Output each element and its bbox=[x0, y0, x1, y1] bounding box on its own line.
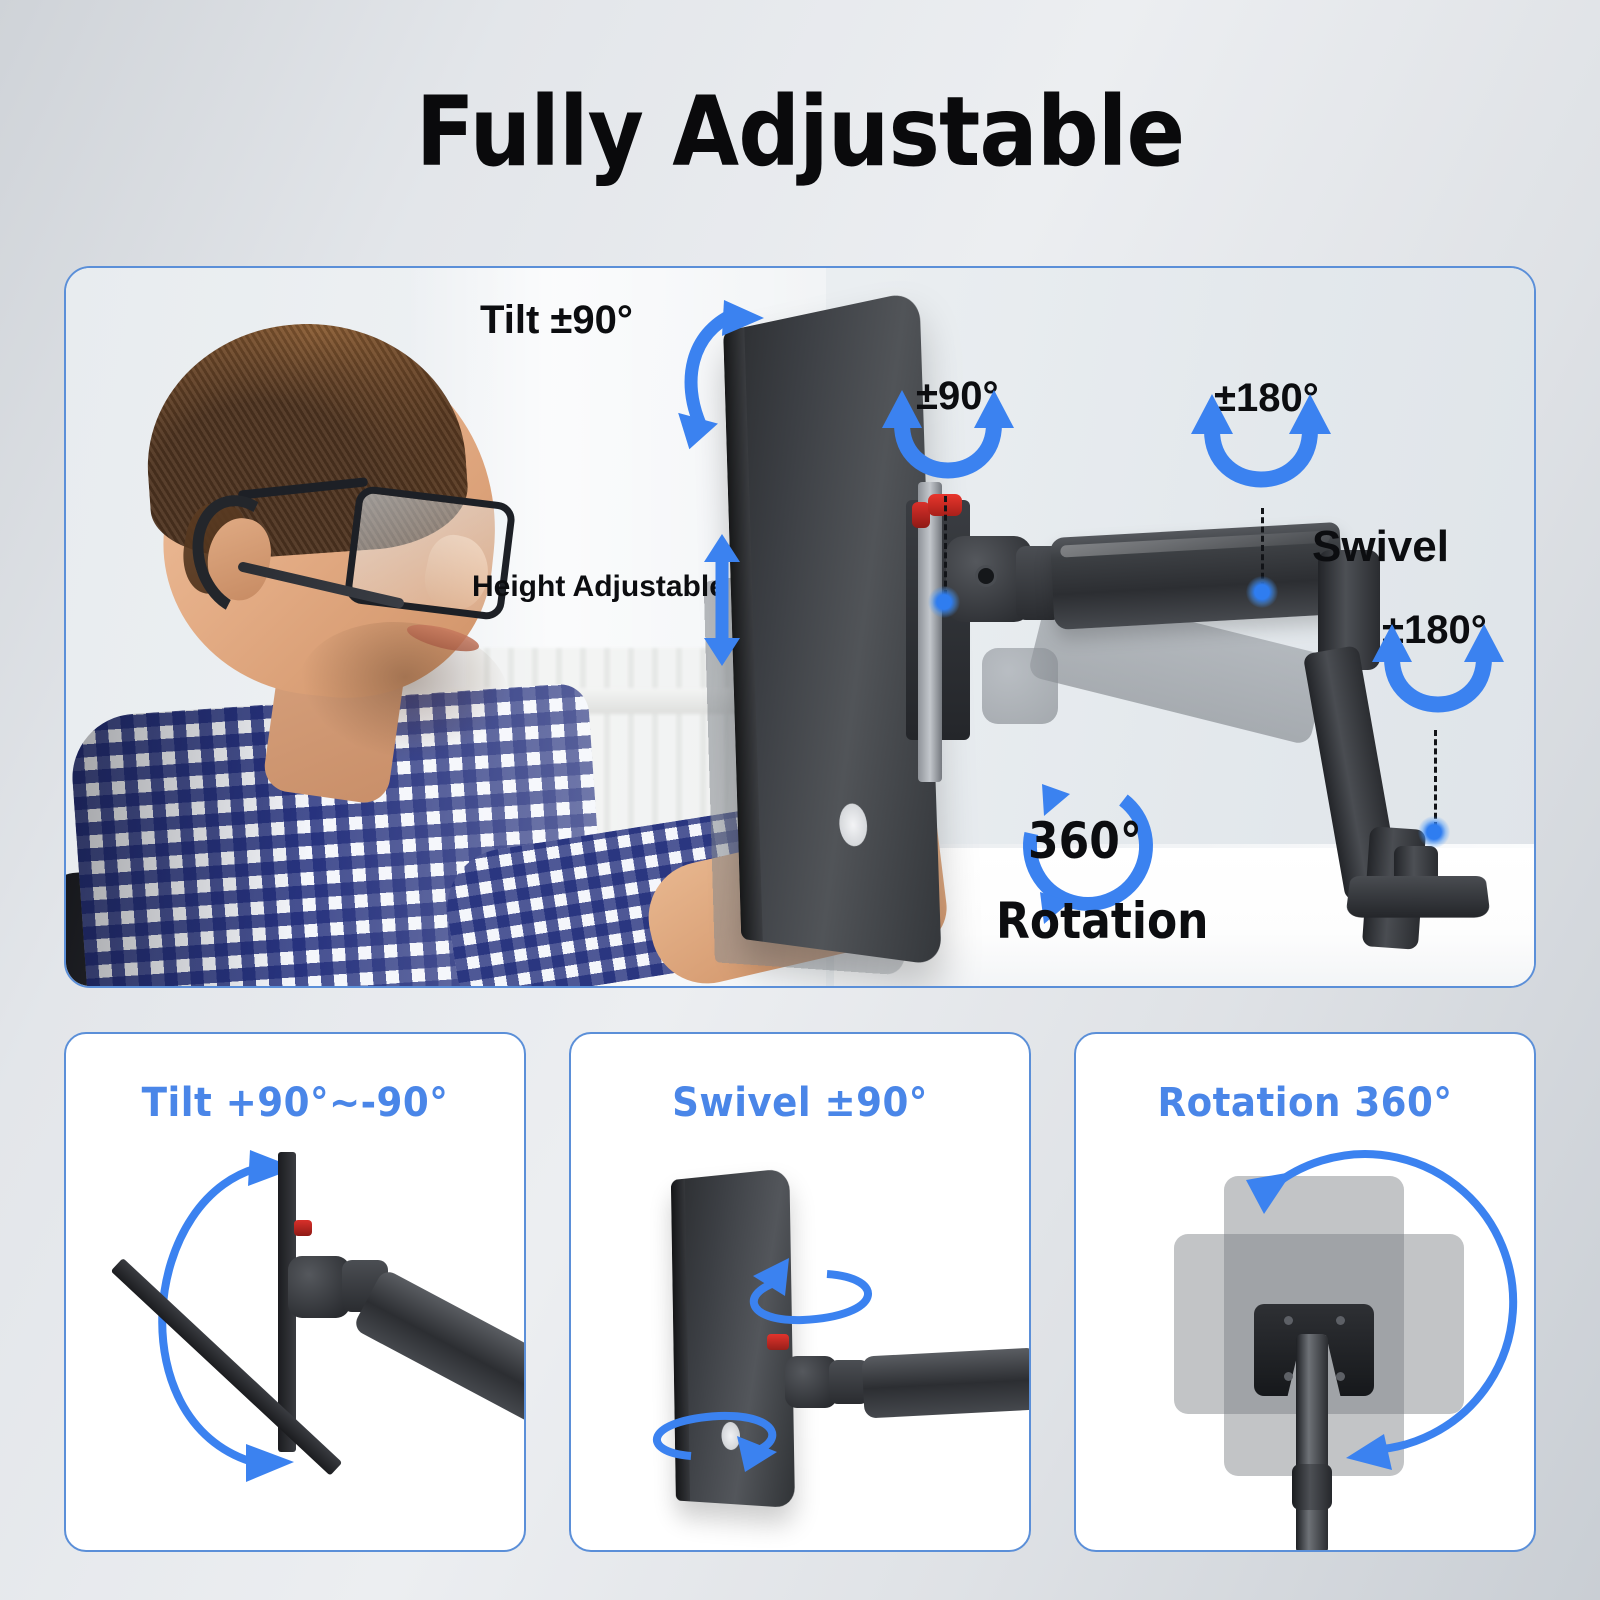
ellipse-arrow-icon bbox=[647, 1230, 907, 1530]
page-title: Fully Adjustable bbox=[80, 84, 1520, 180]
annotation-swivel-word: Swivel bbox=[1312, 522, 1449, 572]
vesa-screw bbox=[1336, 1372, 1345, 1381]
swivel-panel-title: Swivel ±90° bbox=[587, 1080, 1013, 1126]
gas-spring-arm bbox=[1050, 522, 1345, 630]
gas-spring-arm bbox=[352, 1268, 526, 1436]
joint-marker bbox=[1418, 816, 1450, 848]
vertical-double-arrow-icon bbox=[702, 534, 742, 666]
person-photo bbox=[88, 308, 728, 988]
mount-post bbox=[1296, 1334, 1328, 1552]
annotation-height-label: Height Adjustable bbox=[472, 570, 726, 604]
leader-line bbox=[944, 496, 947, 596]
arm-ghost-joint bbox=[982, 648, 1058, 724]
rotation-panel-title: Rotation 360° bbox=[1092, 1080, 1518, 1126]
main-scene: Tilt ±90° ±90° ±180° Swivel ±180° bbox=[66, 268, 1534, 986]
annotation-tilt-label: Tilt ±90° bbox=[480, 298, 633, 343]
desk-clamp-base bbox=[1345, 876, 1490, 918]
vesa-screw bbox=[1284, 1372, 1293, 1381]
swivel-panel: Swivel ±90° bbox=[569, 1032, 1031, 1552]
vesa-screw bbox=[1284, 1316, 1293, 1325]
monitor-indicator bbox=[839, 803, 868, 848]
u-arrow-double-icon bbox=[878, 390, 1018, 500]
tilt-joint bbox=[288, 1256, 350, 1318]
u-arrow-double-icon bbox=[1368, 624, 1508, 734]
red-release-lever bbox=[294, 1220, 312, 1236]
annotation-360-label: 360° bbox=[1028, 812, 1142, 870]
joint-marker bbox=[1246, 576, 1278, 608]
tilt-panel: Tilt +90°~-90° bbox=[64, 1032, 526, 1552]
joint-marker bbox=[928, 586, 960, 618]
tilt-panel-title: Tilt +90°~-90° bbox=[82, 1080, 508, 1126]
vesa-screw bbox=[1336, 1316, 1345, 1325]
leader-line bbox=[1434, 730, 1437, 828]
annotation-rotation-word: Rotation bbox=[996, 892, 1209, 950]
curved-double-arrow-icon bbox=[678, 296, 808, 446]
post-collar bbox=[1292, 1464, 1332, 1510]
rotation-panel: Rotation 360° bbox=[1074, 1032, 1536, 1552]
main-feature-panel: Tilt ±90° ±90° ±180° Swivel ±180° bbox=[64, 266, 1536, 988]
u-arrow-double-icon bbox=[1186, 394, 1336, 510]
